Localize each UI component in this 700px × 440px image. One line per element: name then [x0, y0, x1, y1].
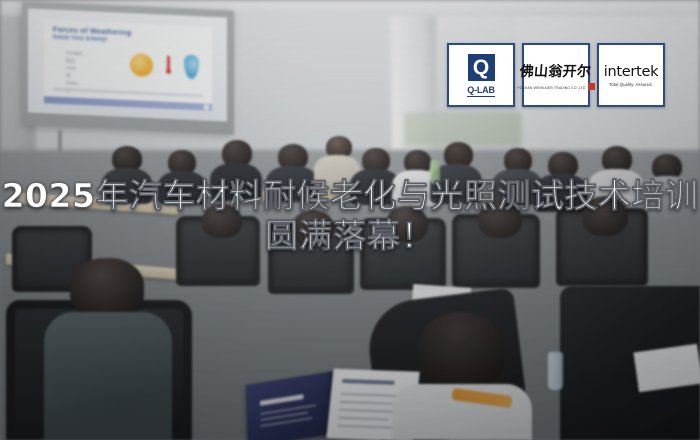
- q-lab-mark-icon: Q: [468, 54, 495, 81]
- handout-paper: [634, 344, 700, 393]
- q-lab-wordmark: Q-LAB: [467, 86, 495, 97]
- whiteboard: [404, 112, 522, 146]
- foshan-wengkaier-chinese-name: 佛山翁开尔: [517, 61, 596, 81]
- attendee-head-foreground-left: [70, 258, 144, 318]
- attendee-head-foreground-right: [418, 312, 504, 388]
- attendee-body: [534, 174, 588, 212]
- slide-bullet-0: Sunlight: [66, 49, 83, 57]
- attendee-head: [478, 200, 522, 238]
- attendee-body: [266, 166, 318, 202]
- handout-line: [338, 425, 396, 429]
- intertek-tagline: Total Quality. Assured.: [604, 82, 658, 87]
- water-drop-icon: [184, 55, 199, 80]
- handout-line: [340, 401, 396, 405]
- handout-line: [339, 409, 399, 413]
- logo-card-foshan-wengkaier: 佛山翁开尔 FOSHAN WENKAIER TRADING CO.,LTD: [522, 43, 590, 107]
- attendee-body: [210, 163, 262, 201]
- intertek-logo: intertek Total Quality. Assured.: [604, 64, 658, 87]
- sponsor-logo-strip: Q Q-LAB 佛山翁开尔 FOSHAN WENKAIER TRADING CO…: [447, 43, 665, 107]
- presentation-slide: Forces of Weathering Know Your Enemy! Su…: [44, 19, 212, 111]
- foshan-wengkaier-english-text: FOSHAN WENKAIER TRADING CO.,LTD: [517, 86, 585, 90]
- slide-subtitle: Know Your Enemy!: [53, 35, 107, 43]
- attendee-body-foreground-left: [44, 312, 172, 440]
- thermometer-icon: [166, 56, 171, 78]
- sun-icon: [130, 53, 153, 77]
- attendee-body: [158, 171, 206, 205]
- logo-card-q-lab: Q Q-LAB: [447, 43, 515, 107]
- red-seal-icon: [588, 83, 595, 90]
- poster-canvas: Forces of Weathering Know Your Enemy! Su…: [0, 0, 700, 440]
- logo-card-intertek: intertek Total Quality. Assured.: [597, 43, 665, 107]
- brochure-title-bar: [260, 394, 304, 406]
- attendee-body: [640, 176, 694, 216]
- handout-heading-bar: [342, 379, 394, 384]
- water-bottle: [548, 352, 563, 390]
- screen-surface: Forces of Weathering Know Your Enemy! Su…: [28, 8, 227, 121]
- attendee-head: [582, 196, 628, 236]
- screen-stand: [58, 130, 62, 156]
- attendee-head: [292, 210, 334, 246]
- drink-bottle: [430, 160, 440, 184]
- attendee-head: [386, 206, 428, 242]
- slide-footer-bar: 4: [44, 96, 212, 111]
- foshan-wengkaier-logo: 佛山翁开尔 FOSHAN WENKAIER TRADING CO.,LTD: [517, 61, 594, 90]
- window-blind-left: [238, 12, 388, 160]
- intertek-wordmark: intertek: [604, 64, 658, 80]
- q-lab-logo: Q Q-LAB: [467, 54, 495, 97]
- foshan-wengkaier-english-name: FOSHAN WENKAIER TRADING CO.,LTD: [517, 83, 594, 90]
- attendee-head: [202, 204, 242, 238]
- attendee-body: [102, 168, 152, 204]
- projector-screen: Forces of Weathering Know Your Enemy! Su…: [22, 1, 234, 135]
- slide-page-number: 4: [204, 104, 209, 109]
- handout-line: [341, 393, 403, 397]
- handout-line: [338, 417, 388, 421]
